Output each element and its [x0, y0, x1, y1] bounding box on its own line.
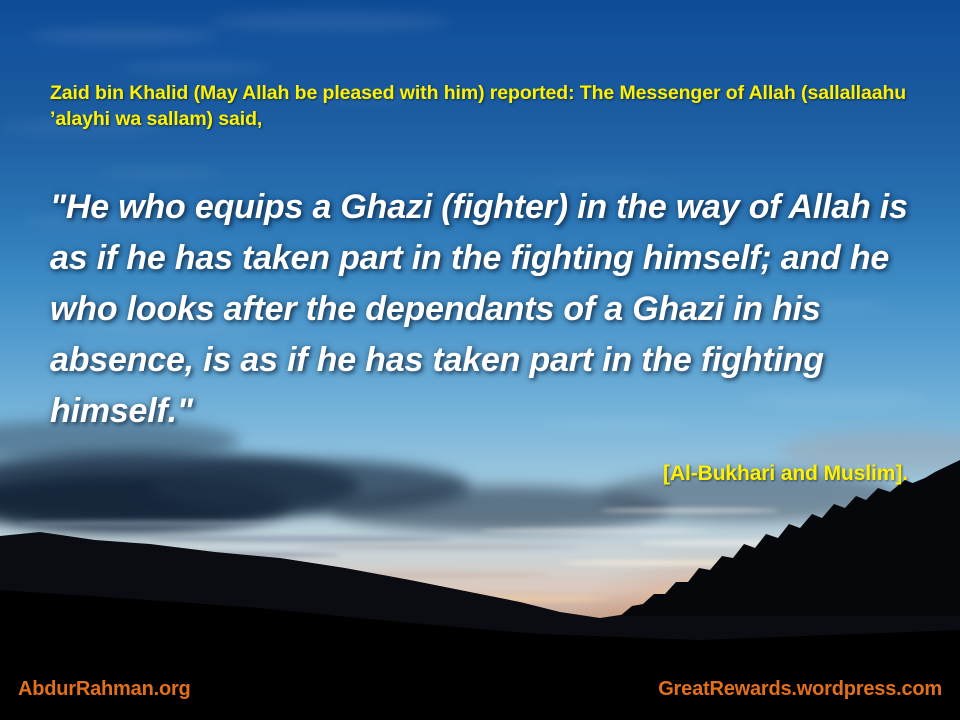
footer-bar: AbdurRahman.org GreatRewards.wordpress.c…	[0, 658, 960, 720]
footer-link-abdurrahman[interactable]: AbdurRahman.org	[18, 678, 191, 701]
cirrus-cloud	[210, 12, 450, 32]
cirrus-cloud	[30, 28, 220, 44]
cirrus-cloud	[120, 62, 270, 74]
narrator-intro-text: Zaid bin Khalid (May Allah be pleased wi…	[50, 80, 920, 132]
cirrus-cloud	[95, 168, 225, 179]
hadith-quote-text: "He who equips a Ghazi (fighter) in the …	[50, 182, 925, 437]
hadith-source-attribution: [Al-Bukhari and Muslim].	[663, 462, 908, 486]
hadith-poster: Zaid bin Khalid (May Allah be pleased wi…	[0, 0, 960, 720]
footer-link-greatrewards[interactable]: GreatRewards.wordpress.com	[658, 678, 942, 701]
